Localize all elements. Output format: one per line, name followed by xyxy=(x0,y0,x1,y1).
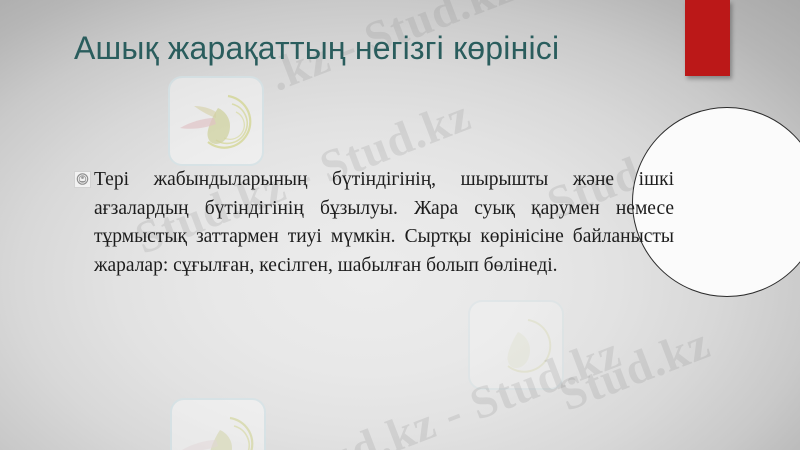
body-paragraph: Тері жабындыларының бүтіндігінің, шырышт… xyxy=(94,166,674,281)
seal-bullet-icon xyxy=(74,171,91,188)
hummingbird-logo-watermark xyxy=(468,300,564,390)
watermark-text: Stud.kz - Stud.kz xyxy=(278,325,628,450)
watermark-text: Stud.kz xyxy=(552,316,717,422)
hummingbird-logo-watermark xyxy=(170,398,266,450)
hummingbird-logo-watermark xyxy=(168,76,264,166)
slide-title: Ашық жарақаттың негізгі көрінісі xyxy=(74,28,694,68)
bullet-list-item: Тері жабындыларының бүтіндігінің, шырышт… xyxy=(74,166,674,281)
presentation-slide: .kz - Stud.kz Stud.kz - Stud.kz Stud.kz … xyxy=(0,0,800,450)
